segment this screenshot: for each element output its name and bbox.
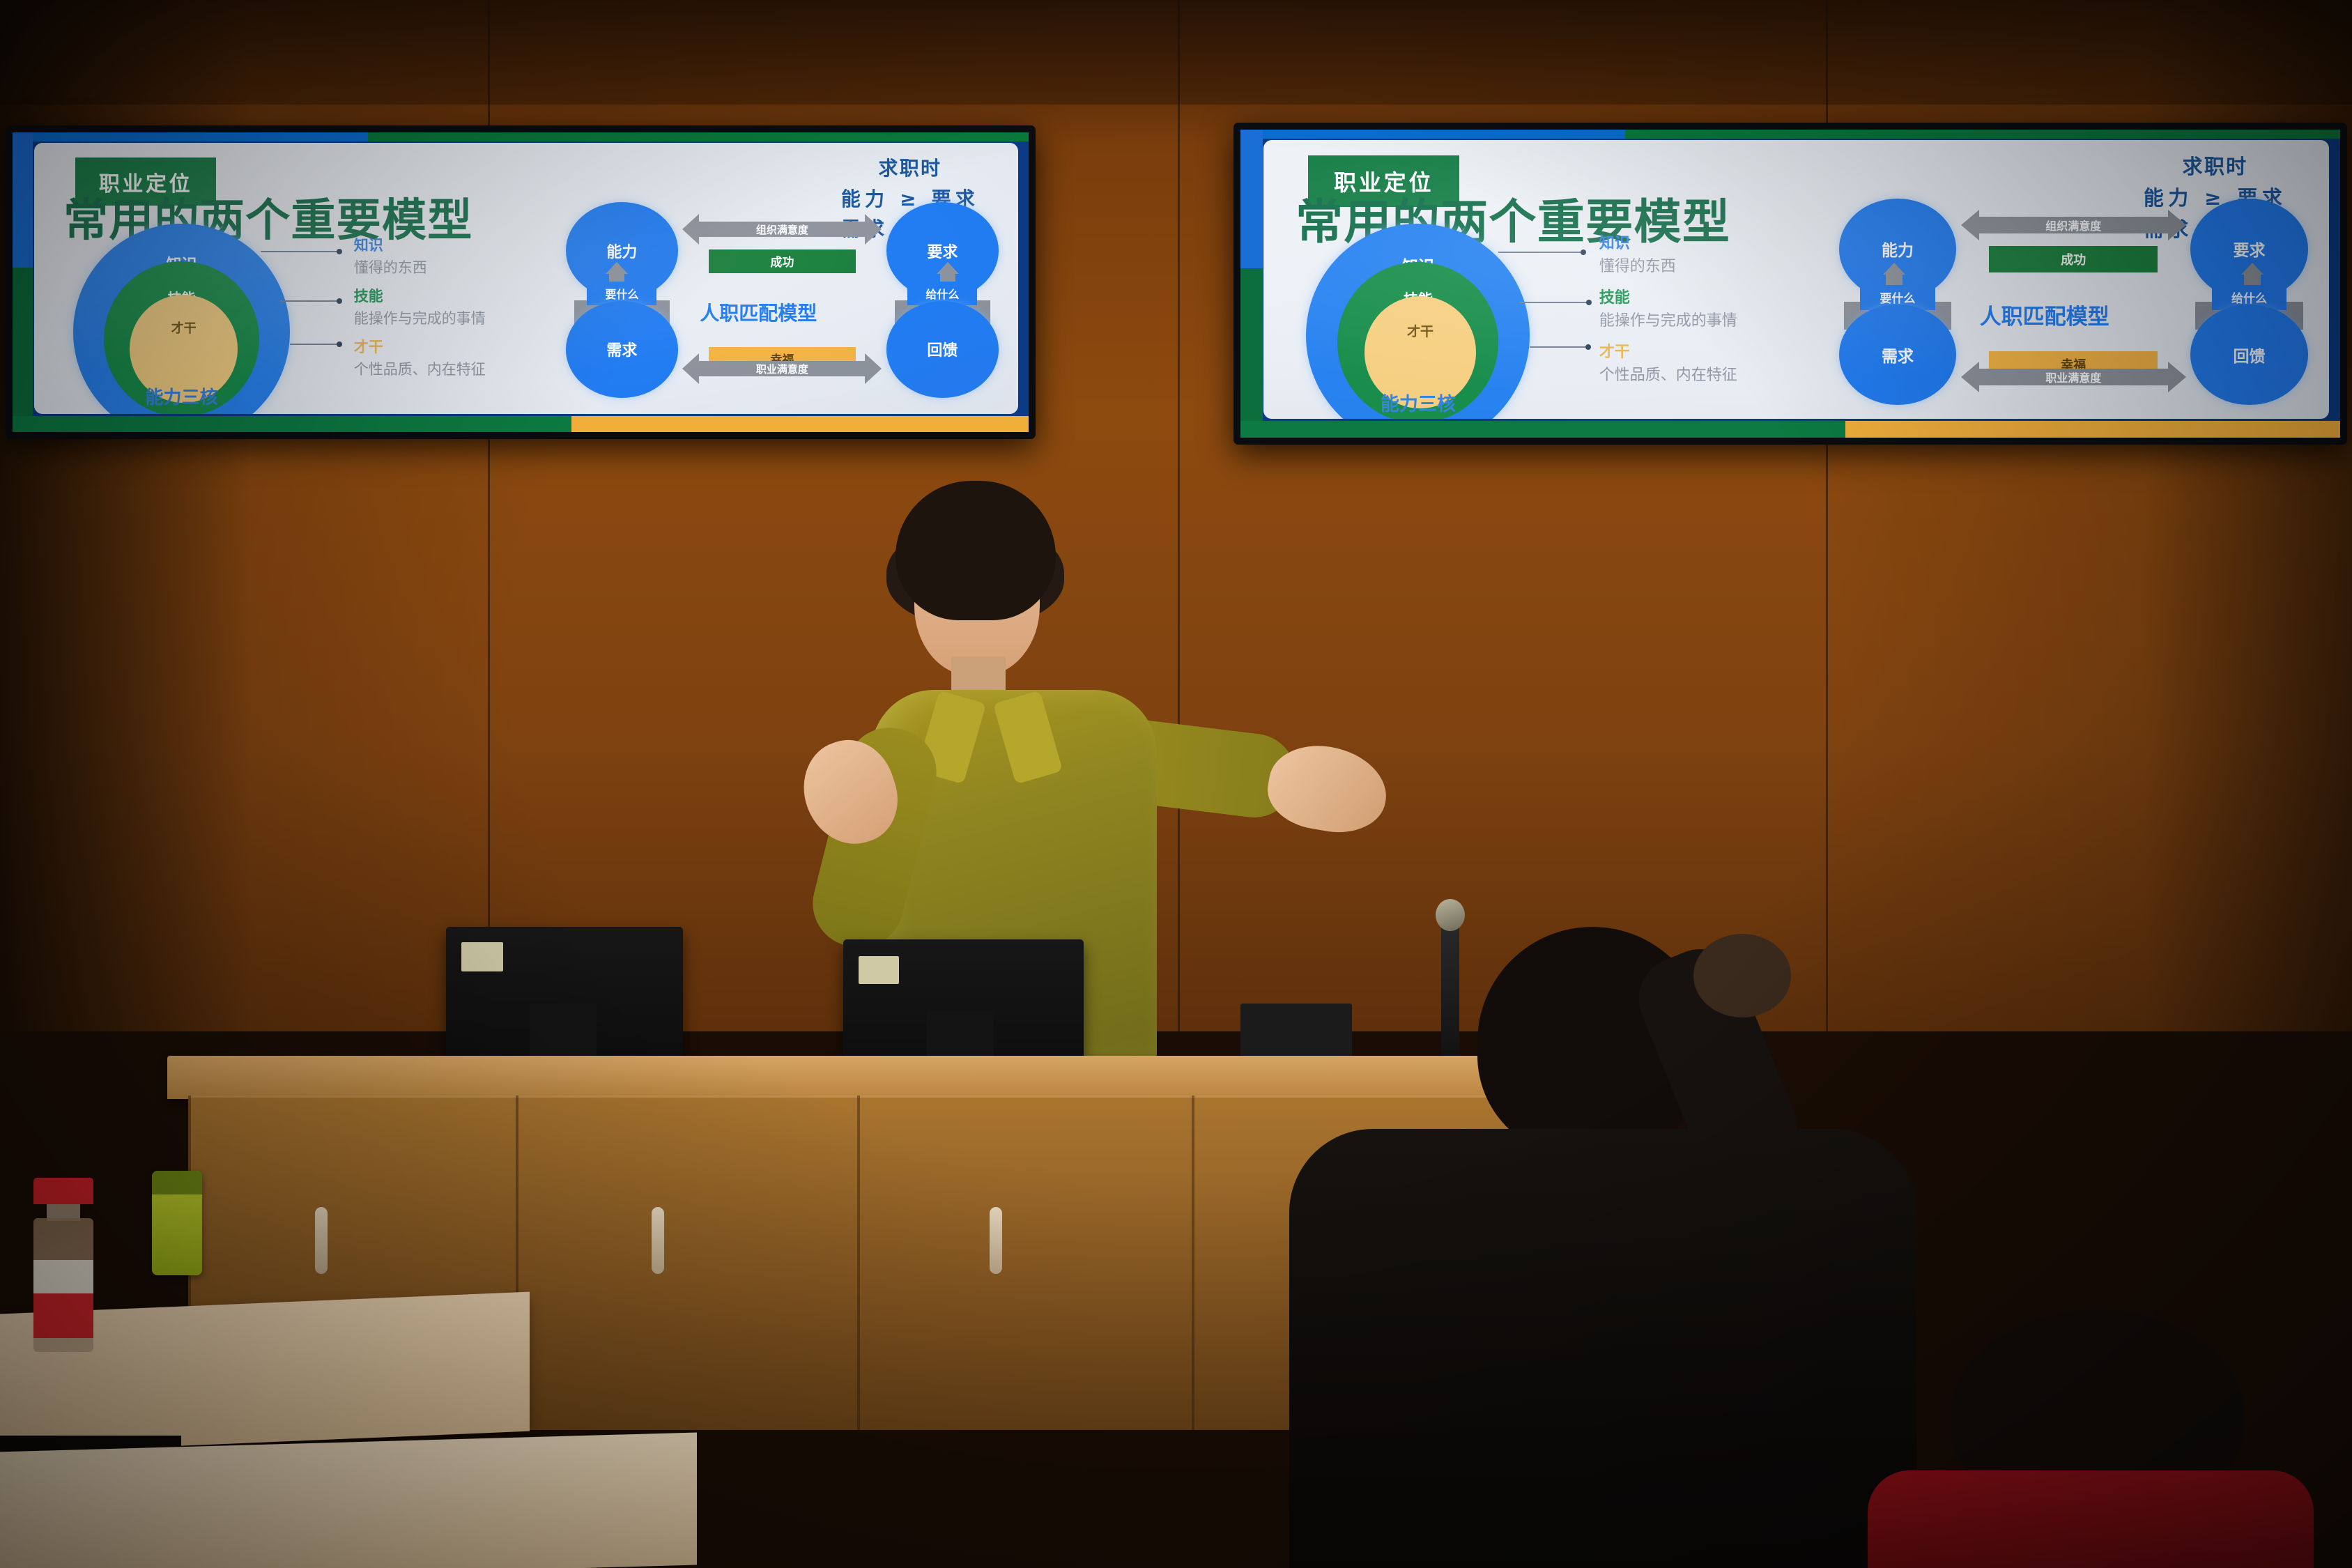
monitor-sticker <box>461 942 503 971</box>
strip-top-green <box>1625 130 2340 139</box>
strip-bottom-green <box>13 416 571 432</box>
strip-bottom-amber <box>571 416 1029 432</box>
podium-latch[interactable] <box>652 1207 664 1274</box>
circle-talent-label: 才干 <box>171 318 197 337</box>
strip-top-blue <box>13 132 368 141</box>
slide-frame: 职业定位 常用的两个重要模型 求职时 能力 ≥ 要求 需求 ≤ 回馈 知识 技能 <box>13 132 1029 432</box>
listener-red-top <box>1868 1470 2314 1568</box>
slide-strip-bottom <box>1240 421 2340 438</box>
slide-left: 职业定位 常用的两个重要模型 求职时 能力 ≥ 要求 需求 ≤ 回馈 知识 技能 <box>34 143 1019 415</box>
display-right-screen: 职业定位 常用的两个重要模型 求职时 能力 ≥ 要求 需求 ≤ 回馈 知识 技能 <box>1240 130 2340 438</box>
bottle-label <box>33 1260 93 1293</box>
bottle-label-red <box>33 1293 93 1338</box>
strip-top-blue <box>1240 130 1625 139</box>
slide-strip-bottom <box>13 416 1029 432</box>
legend-key-knowledge: 知识 <box>354 235 486 257</box>
slide-right: 职业定位 常用的两个重要模型 求职时 能力 ≥ 要求 需求 ≤ 回馈 知识 技能 <box>1263 140 2329 419</box>
slide-strip-top <box>13 132 1029 141</box>
lecture-scene: 职业定位 常用的两个重要模型 求职时 能力 ≥ 要求 需求 ≤ 回馈 知识 技能 <box>0 0 2352 1568</box>
podium-latch[interactable] <box>990 1207 1002 1274</box>
leader-line-knowledge <box>261 251 339 252</box>
listener-hand <box>1693 934 1791 1017</box>
legend-desc-skill: 能操作与完成的事情 <box>354 308 486 330</box>
job-seeking-heading: 求职时 <box>841 153 979 183</box>
front-desk <box>0 1432 697 1568</box>
strip-top-green <box>368 132 1029 141</box>
legend-key-talent: 才干 <box>354 337 486 359</box>
legend-key-skill: 技能 <box>1599 286 1737 309</box>
arrow-org-satisfaction-label: 组织满意度 <box>699 222 865 237</box>
ceiling-band <box>0 0 2352 105</box>
slide-rail-left <box>13 132 33 432</box>
presenter-hair <box>896 481 1056 620</box>
rail-blue <box>13 132 33 268</box>
thermos[interactable] <box>152 1171 202 1275</box>
legend-desc-talent: 个性品质、内在特征 <box>354 359 486 381</box>
node-feedback: 给什么 回馈 <box>886 282 999 398</box>
node-need-bubble: 需求 <box>566 301 679 398</box>
legend-block: 知识 懂得的东西 技能 能操作与完成的事情 才干 个性品质、内在特征 <box>1599 232 1737 387</box>
leader-line-knowledge <box>1498 252 1583 253</box>
leader-line-skill <box>1519 302 1588 303</box>
legend-block: 知识 懂得的东西 技能 能操作与完成的事情 才干 个性品质、内在特征 <box>354 235 486 381</box>
legend-key-knowledge: 知识 <box>1599 232 1737 255</box>
person-job-model: 能力 有什么 要求 要什么 组织满意度 成功 <box>566 202 999 398</box>
model-title: 人职匹配模型 <box>1980 299 2109 330</box>
legend-desc-skill: 能操作与完成的事情 <box>1599 309 1737 332</box>
podium-seam <box>1192 1096 1194 1430</box>
chip-success: 成功 <box>1989 246 2158 272</box>
listener-right <box>1854 1310 2352 1568</box>
rail-green <box>1240 268 1263 438</box>
strip-bottom-green <box>1240 421 1845 438</box>
rail-green <box>13 268 33 433</box>
arrow-org-satisfaction: 组织满意度 <box>682 214 882 245</box>
arrow-career-satisfaction: 职业满意度 <box>1961 361 2186 393</box>
three-core-circles: 知识 技能 才干 能力三核 <box>73 224 290 392</box>
display-right[interactable]: 职业定位 常用的两个重要模型 求职时 能力 ≥ 要求 需求 ≤ 回馈 知识 技能 <box>1233 123 2347 445</box>
three-core-circles: 知识 技能 才干 能力三核 <box>1306 224 1530 397</box>
arrow-career-satisfaction-label: 职业满意度 <box>1979 369 2168 385</box>
chip-success: 成功 <box>709 249 856 273</box>
podium-seam <box>857 1096 860 1430</box>
legend-desc-knowledge: 懂得的东西 <box>1599 255 1737 278</box>
node-need: 要什么 需求 <box>1839 285 1956 406</box>
display-left[interactable]: 职业定位 常用的两个重要模型 求职时 能力 ≥ 要求 需求 ≤ 回馈 知识 技能 <box>6 125 1036 439</box>
node-need-bubble: 需求 <box>1839 305 1956 406</box>
node-feedback-bubble: 回馈 <box>886 301 999 398</box>
legend-desc-knowledge: 懂得的东西 <box>354 257 486 279</box>
leader-line-skill <box>280 300 339 302</box>
arrow-org-satisfaction: 组织满意度 <box>1961 209 2186 241</box>
three-core-caption: 能力三核 <box>73 383 290 409</box>
legend-desc-talent: 个性品质、内在特征 <box>1599 364 1737 387</box>
node-feedback: 给什么 回馈 <box>2190 285 2307 406</box>
slide-rail-left <box>1240 130 1263 438</box>
bottle-cap <box>33 1178 93 1204</box>
legend-key-skill: 技能 <box>354 286 486 308</box>
strip-bottom-amber <box>1845 421 2340 438</box>
person-job-model: 能力 有什么 要求 要什么 组织满意度 成功 <box>1839 199 2308 405</box>
rail-blue <box>1240 130 1263 268</box>
leader-line-talent <box>1530 346 1588 348</box>
monitor-sticker <box>859 956 899 984</box>
podium-latch[interactable] <box>315 1207 328 1274</box>
three-core-caption: 能力三核 <box>1306 389 1530 416</box>
legend-key-talent: 才干 <box>1599 341 1737 364</box>
arrow-career-satisfaction-label: 职业满意度 <box>699 361 865 376</box>
leader-line-talent <box>290 344 339 345</box>
display-left-screen: 职业定位 常用的两个重要模型 求职时 能力 ≥ 要求 需求 ≤ 回馈 知识 技能 <box>13 132 1029 432</box>
job-seeking-heading: 求职时 <box>2144 151 2286 183</box>
listener-front <box>1247 927 1944 1568</box>
circle-talent-label: 才干 <box>1407 321 1434 340</box>
water-bottle[interactable] <box>33 1178 93 1352</box>
slide-frame: 职业定位 常用的两个重要模型 求职时 能力 ≥ 要求 需求 ≤ 回馈 知识 技能 <box>1240 130 2340 438</box>
listener-body <box>1289 1129 1916 1568</box>
arrow-org-satisfaction-label: 组织满意度 <box>1979 217 2168 233</box>
node-need: 要什么 需求 <box>566 282 679 398</box>
model-title: 人职匹配模型 <box>700 298 817 326</box>
thermos-cap <box>152 1171 202 1194</box>
node-feedback-bubble: 回馈 <box>2190 305 2307 406</box>
slide-strip-top <box>1240 130 2340 139</box>
arrow-career-satisfaction: 职业满意度 <box>682 353 882 384</box>
